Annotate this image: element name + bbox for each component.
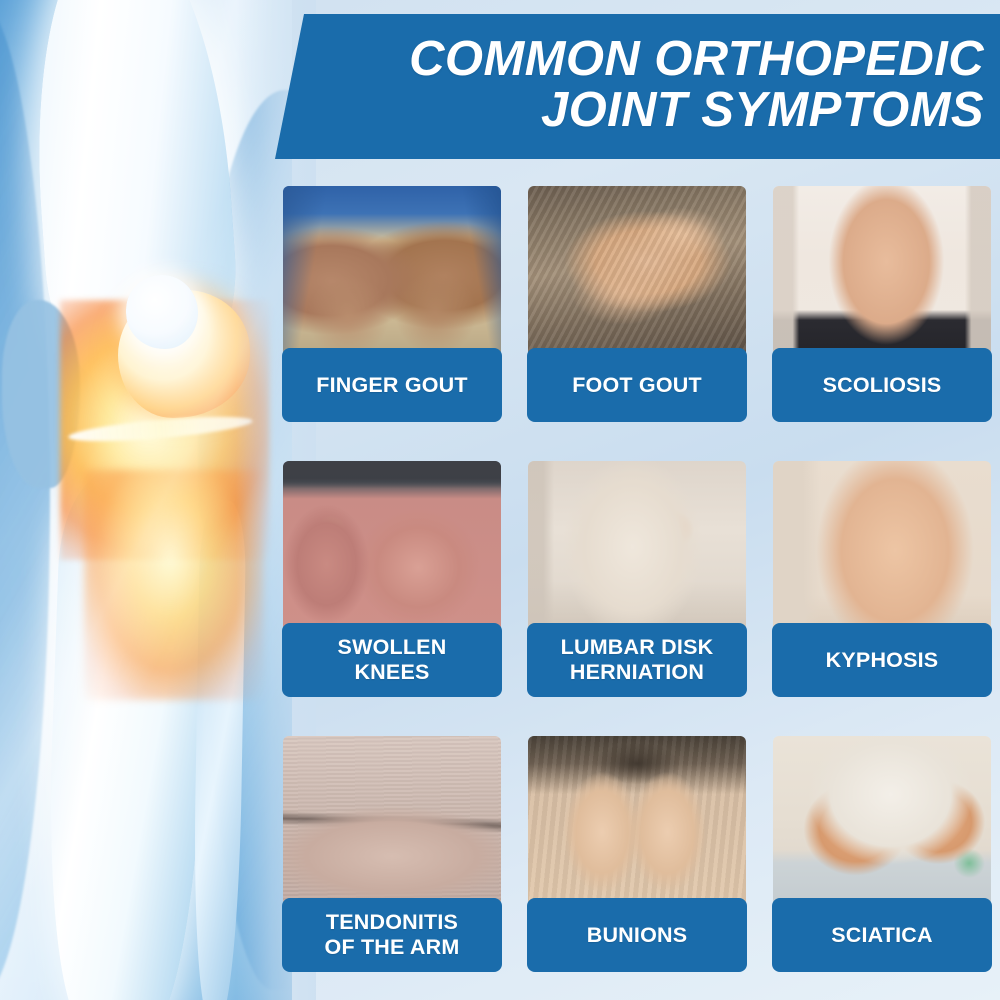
card-label-kyphosis: KYPHOSIS (772, 623, 992, 697)
photo-sciatica (773, 736, 991, 908)
photo-foot-gout (528, 186, 746, 358)
card-label-finger-gout: FINGER GOUT (282, 348, 502, 422)
photo-tendonitis-of-the-arm (283, 736, 501, 908)
card-label-swollen-knees: SWOLLEN KNEES (282, 623, 502, 697)
photo-finger-gout (283, 186, 501, 358)
page-title-line-2: JOINT SYMPTOMS (275, 85, 984, 136)
symptom-card-foot-gout[interactable]: FOOT GOUT (528, 186, 746, 446)
symptom-card-bunions[interactable]: BUNIONS (528, 736, 746, 996)
symptom-card-lumbar-disk-herniation[interactable]: LUMBAR DISK HERNIATION (528, 461, 746, 721)
symptom-card-tendonitis-of-the-arm[interactable]: TENDONITIS OF THE ARM (283, 736, 501, 996)
card-label-line-1: BUNIONS (587, 923, 688, 947)
card-label-line-2: OF THE ARM (325, 935, 460, 960)
photo-swollen-knees (283, 461, 501, 633)
photo-kyphosis (773, 461, 991, 633)
card-label-lumbar-disk-herniation: LUMBAR DISK HERNIATION (527, 623, 747, 697)
symptom-card-scoliosis[interactable]: SCOLIOSIS (773, 186, 991, 446)
card-label-line-1: TENDONITIS (325, 910, 460, 935)
page-title: COMMON ORTHOPEDIC JOINT SYMPTOMS (275, 34, 984, 136)
photo-lumbar-disk-herniation (528, 461, 746, 633)
symptom-card-kyphosis[interactable]: KYPHOSIS (773, 461, 991, 721)
infographic-page: COMMON ORTHOPEDIC JOINT SYMPTOMS FINGER … (0, 0, 1000, 1000)
card-label-line-1: SCOLIOSIS (823, 373, 942, 397)
card-label-line-1: SWOLLEN (338, 635, 447, 660)
card-label-line-1: SCIATICA (831, 923, 933, 947)
photo-bunions (528, 736, 746, 908)
card-label-line-1: KYPHOSIS (826, 648, 939, 672)
card-label-sciatica: SCIATICA (772, 898, 992, 972)
symptom-card-swollen-knees[interactable]: SWOLLEN KNEES (283, 461, 501, 721)
card-label-line-2: HERNIATION (561, 660, 714, 685)
card-label-line-1: FOOT GOUT (572, 373, 702, 397)
card-label-scoliosis: SCOLIOSIS (772, 348, 992, 422)
card-label-tendonitis-of-the-arm: TENDONITIS OF THE ARM (282, 898, 502, 972)
symptom-card-grid: FINGER GOUT FOOT GOUT SCOLIOSIS SWOLLEN … (283, 186, 991, 986)
card-label-line-1: LUMBAR DISK (561, 635, 714, 660)
card-label-line-2: KNEES (338, 660, 447, 685)
symptom-card-finger-gout[interactable]: FINGER GOUT (283, 186, 501, 446)
title-banner: COMMON ORTHOPEDIC JOINT SYMPTOMS (275, 14, 1000, 159)
card-label-bunions: BUNIONS (527, 898, 747, 972)
page-title-line-1: COMMON ORTHOPEDIC (275, 34, 984, 85)
card-label-foot-gout: FOOT GOUT (527, 348, 747, 422)
card-label-line-1: FINGER GOUT (316, 373, 468, 397)
symptom-card-sciatica[interactable]: SCIATICA (773, 736, 991, 996)
photo-scoliosis (773, 186, 991, 358)
